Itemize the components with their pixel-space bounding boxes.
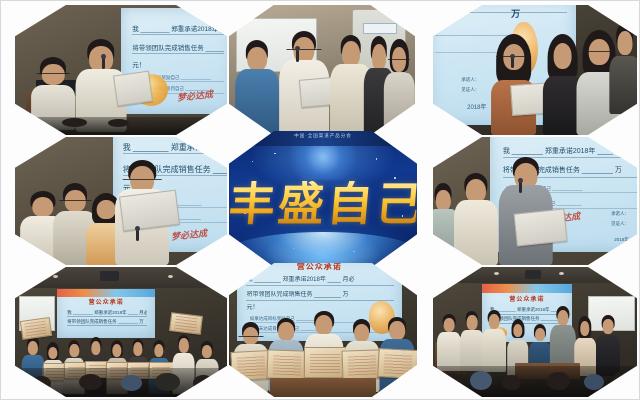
scene-group-certificates-wide: 营公众承诺 我 ________ 郑重承诺2018年 ____ 月必 将带领团队…: [15, 267, 227, 397]
microphone: [519, 181, 522, 193]
certificate: [304, 347, 345, 377]
person-at-podium: [437, 314, 461, 371]
scene-five-certificates: 营公众承诺 我 ________ 郑重承诺2018年 ____ 月必 将带领团队…: [229, 263, 417, 397]
slide-sign-1: 承诺人：: [461, 77, 479, 83]
scene-hall-wide: 营公众承诺 我 ________ 郑重承诺2018年 ____ 月必 将带领团队…: [433, 267, 637, 397]
slide-line-2: 将带领团队完成销售任务 ________ 万: [67, 319, 147, 327]
certificate: [266, 349, 307, 379]
microphone: [511, 57, 514, 68]
person-raising-cert-left: [21, 337, 44, 392]
certificate: [341, 349, 382, 379]
microphone: [296, 49, 299, 62]
slide-line-2: 将带领团队完成销售任务 ________ 万: [246, 291, 393, 301]
collage-tile-top-left[interactable]: 我 ________ 郑重承诺2018年 ____ 月必 将带领团队完成销售任务…: [15, 5, 227, 135]
commitment-sheet: [113, 70, 153, 105]
collage-tile-top-right[interactable]: 万 承诺人： 见证人： 2018年: [433, 5, 637, 135]
audience: [433, 366, 637, 397]
slide-line-1: 我 ________ 郑重承诺2018年 ____ 月必: [246, 276, 393, 286]
person-standing-left: [453, 173, 498, 265]
slide-year: 2018年: [614, 237, 629, 243]
photo-collage: 我 ________ 郑重承诺2018年 ____ 月必 将带领团队完成销售任务…: [0, 0, 640, 400]
slide-sign-2: 见证人：: [611, 221, 629, 227]
horizon-glow: [229, 232, 417, 267]
slide-line-1: 我 ________ 郑重承诺2018年 ____ 月必: [67, 310, 147, 318]
slide-header: 营公众承诺: [489, 294, 564, 303]
slide-sign-1: 承诺人：: [611, 211, 629, 217]
collage-tile-middle-left[interactable]: 我 ________ 郑重承诺2018年 ____ 月必 将带领团队完成销售任务…: [15, 137, 227, 265]
scene-lineup-whiteboard: [229, 5, 415, 135]
slide-unit: 万: [511, 7, 520, 20]
stage-table: [270, 378, 375, 397]
projector: [100, 271, 119, 281]
slide-line-2: 将带领团队完成销售任务 ________ 万: [132, 44, 224, 54]
collage-tile-center-banner[interactable]: 中国·全国渠道产品分会 丰盛自己: [229, 131, 417, 267]
person-staff-1: [460, 311, 484, 371]
projector: [525, 270, 541, 279]
projection-screen: 营公众承诺 我 ________ 郑重承诺2018年 ____ 月必 将带领团队…: [57, 289, 155, 338]
slide-line-3: 元！: [246, 304, 286, 313]
wall-sign: [363, 23, 397, 34]
event-banner: 中国·全国渠道产品分会 丰盛自己: [229, 131, 417, 267]
person-glasses-right: [383, 39, 415, 135]
collage-tile-top-center[interactable]: [229, 5, 415, 135]
commitment-sheet: [119, 190, 180, 232]
slide-line-1: 我 ________ 郑重承诺2018年 ____ 月必: [123, 142, 227, 155]
person-back-right: [608, 23, 637, 114]
slide-line-1: 我 ________ 郑重承诺2018年 ____ 月必: [132, 25, 224, 35]
person-blue-shirt: [235, 40, 280, 135]
slide-line-3: 元！: [132, 61, 171, 70]
audience: [15, 117, 227, 135]
microphone: [136, 229, 139, 241]
certificate: [377, 348, 417, 379]
slide-header: 营公众承诺: [65, 297, 147, 306]
slide-sign-2: 见证人：: [461, 87, 479, 93]
scene-solo-speaker: 营公众承诺 我 ________ 郑重承诺2018年 ____ 月必 将带领团队…: [433, 137, 637, 265]
collage-tile-middle-right[interactable]: 营公众承诺 我 ________ 郑重承诺2018年 ____ 月必 将带领团队…: [433, 137, 637, 265]
collage-tile-bottom-right[interactable]: 营公众承诺 我 ________ 郑重承诺2018年 ____ 月必 将带领团队…: [433, 267, 637, 397]
scene-stage-podium: 我 ________ 郑重承诺2018年 ____ 月必 将带领团队完成销售任务…: [15, 5, 227, 135]
collage-tile-bottom-center[interactable]: 营公众承诺 我 ________ 郑重承诺2018年 ____ 月必 将带领团队…: [229, 263, 417, 397]
collage-tile-bottom-left[interactable]: 营公众承诺 我 ________ 郑重承诺2018年 ____ 月必 将带领团队…: [15, 267, 227, 397]
audience: [15, 368, 227, 397]
banner-top-strip: 中国·全国渠道产品分会: [229, 131, 417, 146]
slide-stamp: 梦必达成: [170, 226, 207, 243]
commitment-sheet: [513, 209, 567, 247]
scene-women-reading: 万 承诺人： 见证人： 2018年: [433, 5, 637, 135]
person-staff-2: [482, 310, 506, 372]
scene-group-reading: 我 ________ 郑重承诺2018年 ____ 月必 将带领团队完成销售任务…: [15, 137, 227, 265]
certificate: [230, 350, 271, 381]
microphone: [102, 57, 105, 69]
slide-stamp: 梦必达成: [177, 87, 214, 104]
banner-headline: 丰盛自己: [229, 181, 417, 227]
slide-year: 2018年: [467, 102, 486, 111]
certificate: [169, 312, 203, 335]
